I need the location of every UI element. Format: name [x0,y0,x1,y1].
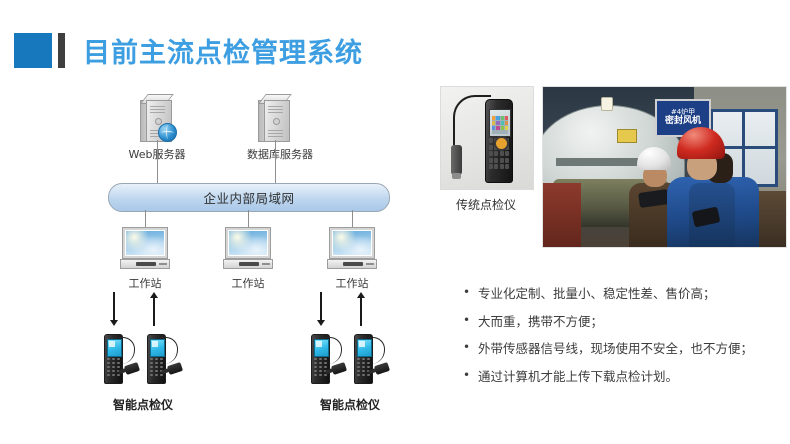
sync-arrow-up-2 [356,292,365,326]
lan-bar-label: 企业内部局域网 [203,188,294,207]
bullet-item: 专业化定制、批量小、稳定性差、售价高； [462,286,772,303]
photo-worker-red-helmet [663,127,763,247]
network-diagram: Web服务器 数据库服务器 企业内部局域网 工作站 工作站 [0,80,430,420]
sync-arrow-down-2 [316,292,325,326]
photo-lamp [601,97,613,111]
connector-workstation-3 [352,210,353,228]
sync-arrow-up-1 [149,292,158,326]
photo-equipment-tag [617,129,637,143]
pda-group-label-1: 智能点检仪 [88,396,198,413]
globe-icon [158,123,177,142]
right-panel: 传统点检仪 #4炉甲 密封风机 [434,86,786,246]
workstation-icon-3 [327,228,377,270]
database-server-label: 数据库服务器 [230,146,330,162]
connector-web-server [157,140,158,183]
issues-bullet-list: 专业化定制、批量小、稳定性差、售价高； 大而重，携带不方便； 外带传感器信号线，… [462,286,772,396]
pda-group-label-2: 智能点检仪 [295,396,405,413]
title-bar-marker [58,33,65,68]
pda-icon-1a [98,334,144,386]
bullet-item: 通过计算机才能上传下载点检计划。 [462,369,772,386]
bullet-item: 外带传感器信号线，现场使用不安全，也不方便； [462,341,772,358]
bullet-item: 大而重，携带不方便； [462,314,772,331]
sensor-probe [451,145,462,175]
database-server-icon [258,94,292,140]
pda-icon-1b [141,334,187,386]
pda-icon-2a [305,334,351,386]
handheld-terminal [485,99,513,183]
connector-workstation-1 [145,210,146,228]
field-inspection-photo: #4炉甲 密封风机 [542,86,787,248]
workstation-icon-1 [120,228,170,270]
sync-arrow-down-1 [109,292,118,326]
traditional-device-caption: 传统点检仪 [434,196,538,213]
photo-foreground-object [543,183,581,247]
sign-line-2: 密封风机 [665,117,701,126]
photo-row: 传统点检仪 #4炉甲 密封风机 [434,86,786,246]
connector-workstation-2 [248,210,249,228]
title-square-marker [14,33,52,68]
page-title: 目前主流点检管理系统 [83,31,363,70]
web-server-icon [140,94,174,140]
workstation-icon-2 [223,228,273,270]
lan-bar: 企业内部局域网 [108,183,390,212]
pda-icon-2b [348,334,394,386]
workstation-label-3: 工作站 [315,275,389,291]
workstation-label-1: 工作站 [108,275,182,291]
connector-database-server [275,140,276,183]
slide-title-row: 目前主流点检管理系统 [14,30,363,70]
workstation-label-2: 工作站 [211,275,285,291]
traditional-device-photo [440,86,534,190]
slide-canvas: 目前主流点检管理系统 Web服务器 数据库服务器 企业内部局域网 [0,0,790,444]
